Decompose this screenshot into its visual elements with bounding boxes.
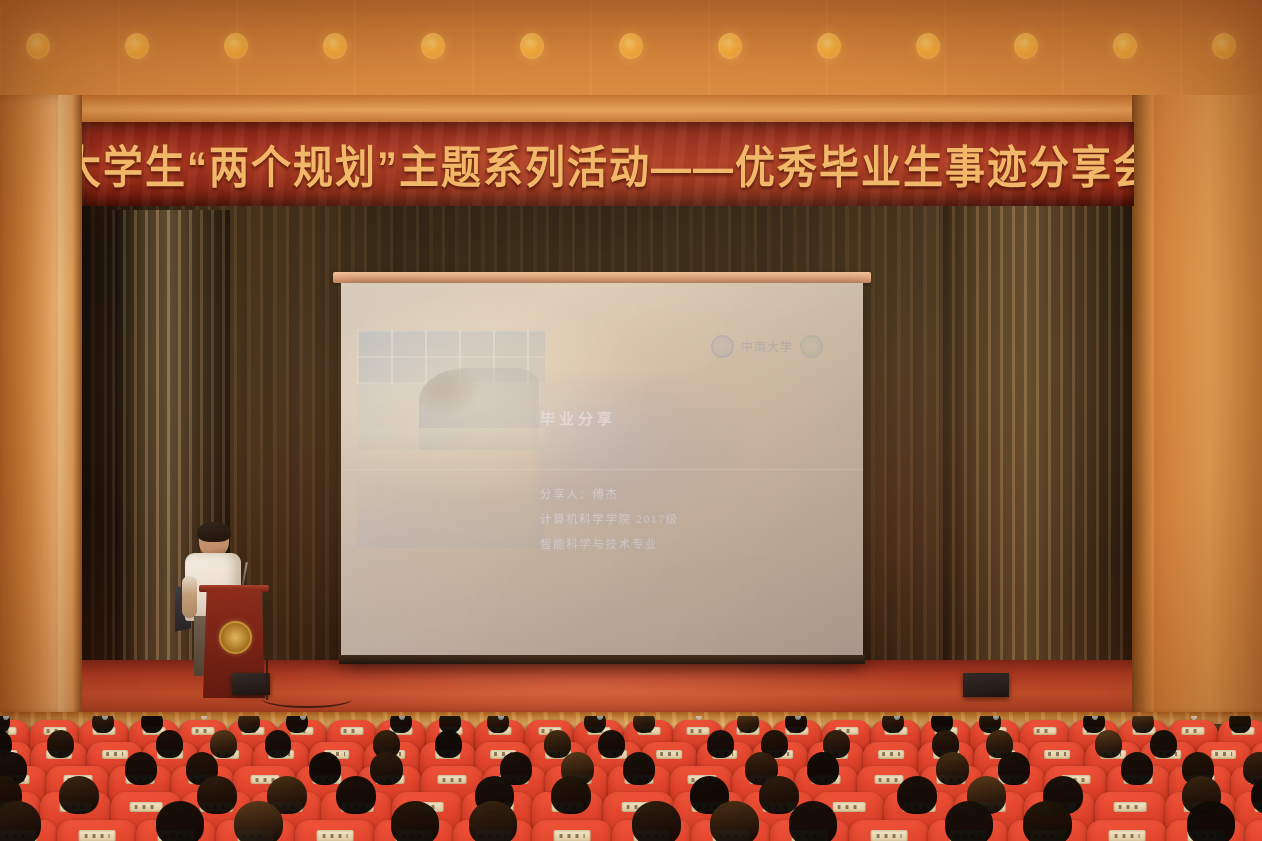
audience-person: [710, 801, 758, 841]
audience-person: [125, 752, 157, 784]
seat-number-plate: [340, 727, 363, 735]
audience-person: [1187, 801, 1235, 841]
water-bottle: [696, 716, 702, 720]
audience-person: [156, 801, 204, 841]
audience-person: [391, 801, 439, 841]
audience-person: [1132, 716, 1154, 733]
water-bottle: [993, 716, 999, 720]
seat-number-plate: [1044, 750, 1070, 759]
audience-person: [707, 730, 734, 758]
auditorium-seat[interactable]: [57, 820, 137, 841]
audience-person: [789, 801, 837, 841]
auditorium-scene: 中南大学 毕业分享 分享人：傅杰 计算机科学学院 2017级 智能科学与技术专业: [0, 0, 1262, 841]
water-bottle: [3, 716, 9, 720]
auditorium-seat[interactable]: [849, 820, 929, 841]
audience-person: [469, 801, 517, 841]
audience-person: [1095, 730, 1122, 758]
audience-person: [737, 716, 759, 733]
seat-number-plate: [1108, 830, 1145, 841]
seat-number-plate: [656, 750, 682, 759]
audience-person: [998, 752, 1030, 784]
seat-number-plate: [687, 727, 710, 735]
seat-number-plate: [554, 830, 591, 841]
audience-person: [945, 801, 993, 841]
audience-person: [309, 752, 341, 784]
seat-number-plate: [874, 775, 903, 785]
seat-number-plate: [192, 727, 215, 735]
audience-person: [336, 776, 376, 814]
seat-number-plate: [130, 802, 163, 813]
seat-number-plate: [1033, 727, 1056, 735]
seat-number-plate: [878, 750, 904, 759]
water-bottle: [894, 716, 900, 720]
event-banner-text: 大学生“两个规划”主题系列活动——优秀毕业生事迹分享会: [82, 132, 1134, 197]
audience-person: [759, 776, 799, 814]
audience-person: [156, 730, 183, 758]
audience-person: [551, 776, 591, 814]
water-bottle: [498, 716, 504, 720]
water-bottle: [1092, 716, 1098, 720]
audience-person: [633, 716, 655, 733]
water-bottle: [300, 716, 306, 720]
audience-person: [197, 776, 237, 814]
audience-person: [265, 730, 292, 758]
audience-person: [210, 730, 237, 758]
audience-person: [1023, 801, 1071, 841]
audience-person: [141, 716, 163, 733]
audience-person: [897, 776, 937, 814]
seat-number-plate: [79, 830, 116, 841]
seat-number-plate: [316, 830, 353, 841]
audience-seating: [0, 716, 1262, 841]
audience-person: [435, 730, 462, 758]
seat-number-plate: [438, 775, 467, 785]
auditorium-seat[interactable]: [1087, 820, 1167, 841]
water-bottle: [102, 716, 108, 720]
audience-person: [1121, 752, 1153, 784]
audience-person: [807, 752, 839, 784]
water-bottle: [597, 716, 603, 720]
water-bottle: [795, 716, 801, 720]
auditorium-seat[interactable]: [532, 820, 612, 841]
event-banner: 大学生“两个规划”主题系列活动——优秀毕业生事迹分享会: [82, 122, 1134, 206]
water-bottle: [1191, 716, 1197, 720]
audience-person: [59, 776, 99, 814]
audience-person: [632, 801, 680, 841]
audience-person: [623, 752, 655, 784]
seat-number-plate: [102, 750, 128, 759]
seat-number-plate: [1211, 750, 1237, 759]
scene-vignette: [0, 0, 1262, 841]
water-bottle: [201, 716, 207, 720]
seat-number-plate: [833, 802, 866, 813]
audience-person: [1150, 730, 1177, 758]
seat-number-plate: [1114, 802, 1147, 813]
seat-number-plate: [1182, 727, 1205, 735]
audience-person: [370, 752, 402, 784]
auditorium-seat[interactable]: [295, 820, 375, 841]
seat-number-plate: [871, 830, 908, 841]
water-bottle: [399, 716, 405, 720]
audience-person: [598, 730, 625, 758]
audience-person: [234, 801, 282, 841]
audience-person: [1229, 716, 1251, 733]
audience-person: [47, 730, 74, 758]
audience-person: [936, 752, 968, 784]
audience-person: [544, 730, 571, 758]
audience-person: [238, 716, 260, 733]
